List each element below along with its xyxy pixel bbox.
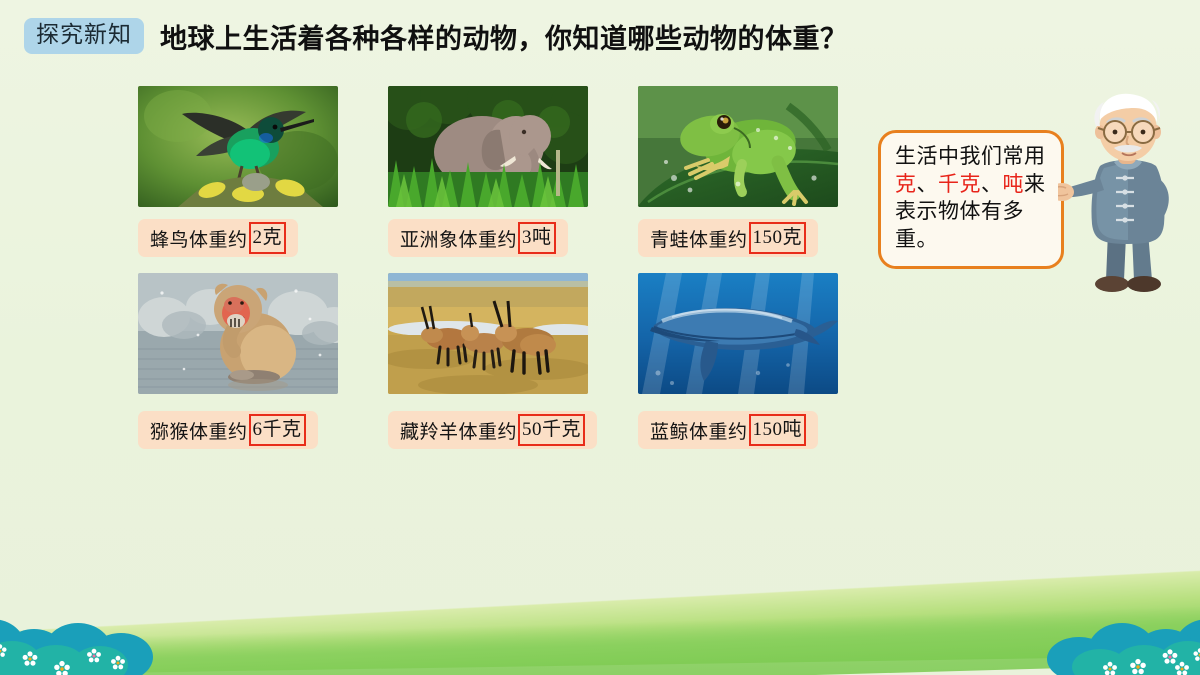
unit-ton-highlight: 吨 xyxy=(1003,172,1025,196)
caption-prefix: 蜂鸟体重约 xyxy=(150,225,248,252)
page-title: 地球上生活着各种各样的动物，你知道哪些动物的体重？ xyxy=(160,17,848,56)
caption-blue-whale: 蓝鲸体重约150吨 xyxy=(638,411,818,449)
bubble-line-1: 生活中我们常 xyxy=(895,144,1024,168)
caption-macaque: 猕猴体重约6千克 xyxy=(138,411,318,449)
animal-cell-hummingbird: 蜂鸟体重约2克 xyxy=(138,86,338,257)
caption-prefix: 藏羚羊体重约 xyxy=(400,417,517,444)
animal-cell-macaque: 猕猴体重约6千克 xyxy=(138,273,338,449)
caption-value: 6千克 xyxy=(249,414,306,447)
speech-bubble: 生活中我们常用克、千克、吨来表示物体有多重。 xyxy=(878,130,1064,269)
animal-row-2: 猕猴体重约6千克 xyxy=(138,273,844,449)
blue-whale-photo xyxy=(638,273,838,394)
caption-value: 2克 xyxy=(249,222,287,255)
bubble-line-2-prefix: 用 xyxy=(1024,144,1046,168)
animal-cell-blue-whale: 蓝鲸体重约150吨 xyxy=(638,273,838,449)
caption-frog: 青蛙体重约150克 xyxy=(638,219,818,257)
caption-value: 3吨 xyxy=(518,222,556,255)
teacher-character xyxy=(1058,92,1198,300)
animal-cell-tibetan-antelope: 藏羚羊体重约50千克 xyxy=(388,273,588,449)
unit-gram-highlight: 克 xyxy=(895,172,917,196)
slide-header: 探究新知 地球上生活着各种各样的动物，你知道哪些动物的体重？ xyxy=(24,12,1180,60)
bubble-sep-1: 、 xyxy=(917,172,939,196)
frog-photo xyxy=(638,86,838,207)
unit-kilogram-highlight: 千克 xyxy=(938,172,981,196)
caption-prefix: 蓝鲸体重约 xyxy=(650,417,748,444)
caption-tibetan-antelope: 藏羚羊体重约50千克 xyxy=(388,411,597,449)
animal-grid: 蜂鸟体重约2克 xyxy=(138,86,844,449)
animal-cell-asian-elephant: 亚洲象体重约3吨 xyxy=(388,86,588,257)
caption-asian-elephant: 亚洲象体重约3吨 xyxy=(388,219,568,257)
caption-prefix: 亚洲象体重约 xyxy=(400,225,517,252)
bubble-sep-2: 、 xyxy=(981,172,1003,196)
caption-value: 150吨 xyxy=(749,414,807,447)
caption-value: 50千克 xyxy=(518,414,585,447)
caption-prefix: 猕猴体重约 xyxy=(150,417,248,444)
caption-hummingbird: 蜂鸟体重约2克 xyxy=(138,219,298,257)
slide-canvas: 探究新知 地球上生活着各种各样的动物，你知道哪些动物的体重？ xyxy=(0,0,1200,675)
asian-elephant-photo xyxy=(388,86,588,207)
animal-cell-frog: 青蛙体重约150克 xyxy=(638,86,838,257)
animal-row-1: 蜂鸟体重约2克 xyxy=(138,86,844,257)
macaque-photo xyxy=(138,273,338,394)
topic-badge: 探究新知 xyxy=(24,18,144,54)
caption-prefix: 青蛙体重约 xyxy=(650,225,748,252)
caption-value: 150克 xyxy=(749,222,807,255)
tibetan-antelope-photo xyxy=(388,273,588,394)
hummingbird-photo xyxy=(138,86,338,207)
